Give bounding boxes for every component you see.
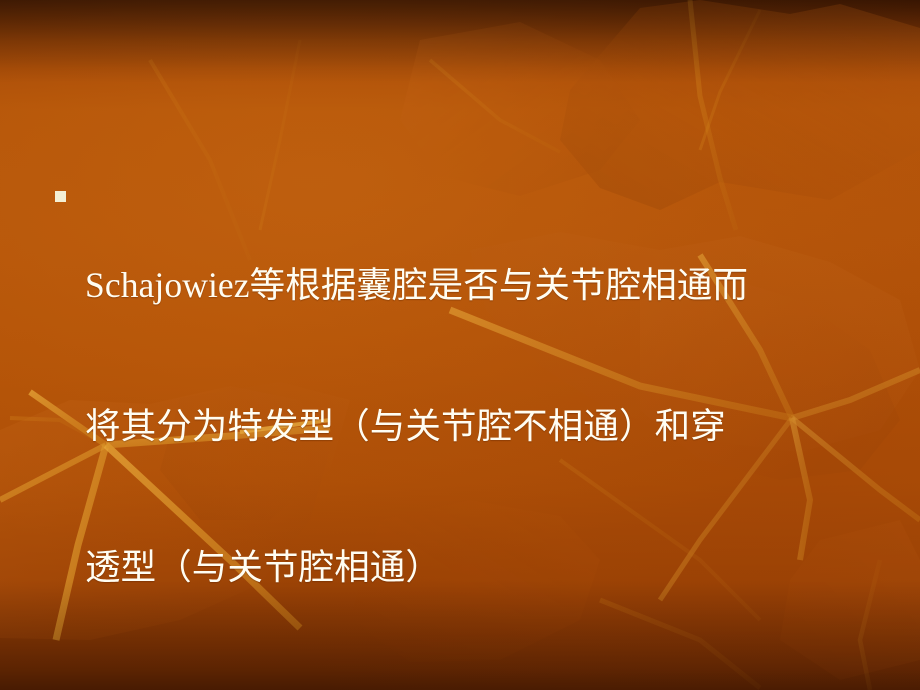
- square-bullet-icon: [55, 191, 66, 202]
- bullet-paragraph: Schajowiez等根据囊腔是否与关节腔相通而 将其分为特发型（与关节腔不相通…: [85, 168, 882, 685]
- content-placeholder[interactable]: Schajowiez等根据囊腔是否与关节腔相通而 将其分为特发型（与关节腔不相通…: [52, 168, 882, 685]
- text-line-1: Schajowiez等根据囊腔是否与关节腔相通而: [85, 262, 882, 309]
- slide-canvas: Schajowiez等根据囊腔是否与关节腔相通而 将其分为特发型（与关节腔不相通…: [0, 0, 920, 690]
- text-line-3: 透型（与关节腔相通）: [85, 544, 882, 591]
- bullet-list-item[interactable]: Schajowiez等根据囊腔是否与关节腔相通而 将其分为特发型（与关节腔不相通…: [52, 168, 882, 685]
- text-line-2: 将其分为特发型（与关节腔不相通）和穿: [85, 403, 882, 450]
